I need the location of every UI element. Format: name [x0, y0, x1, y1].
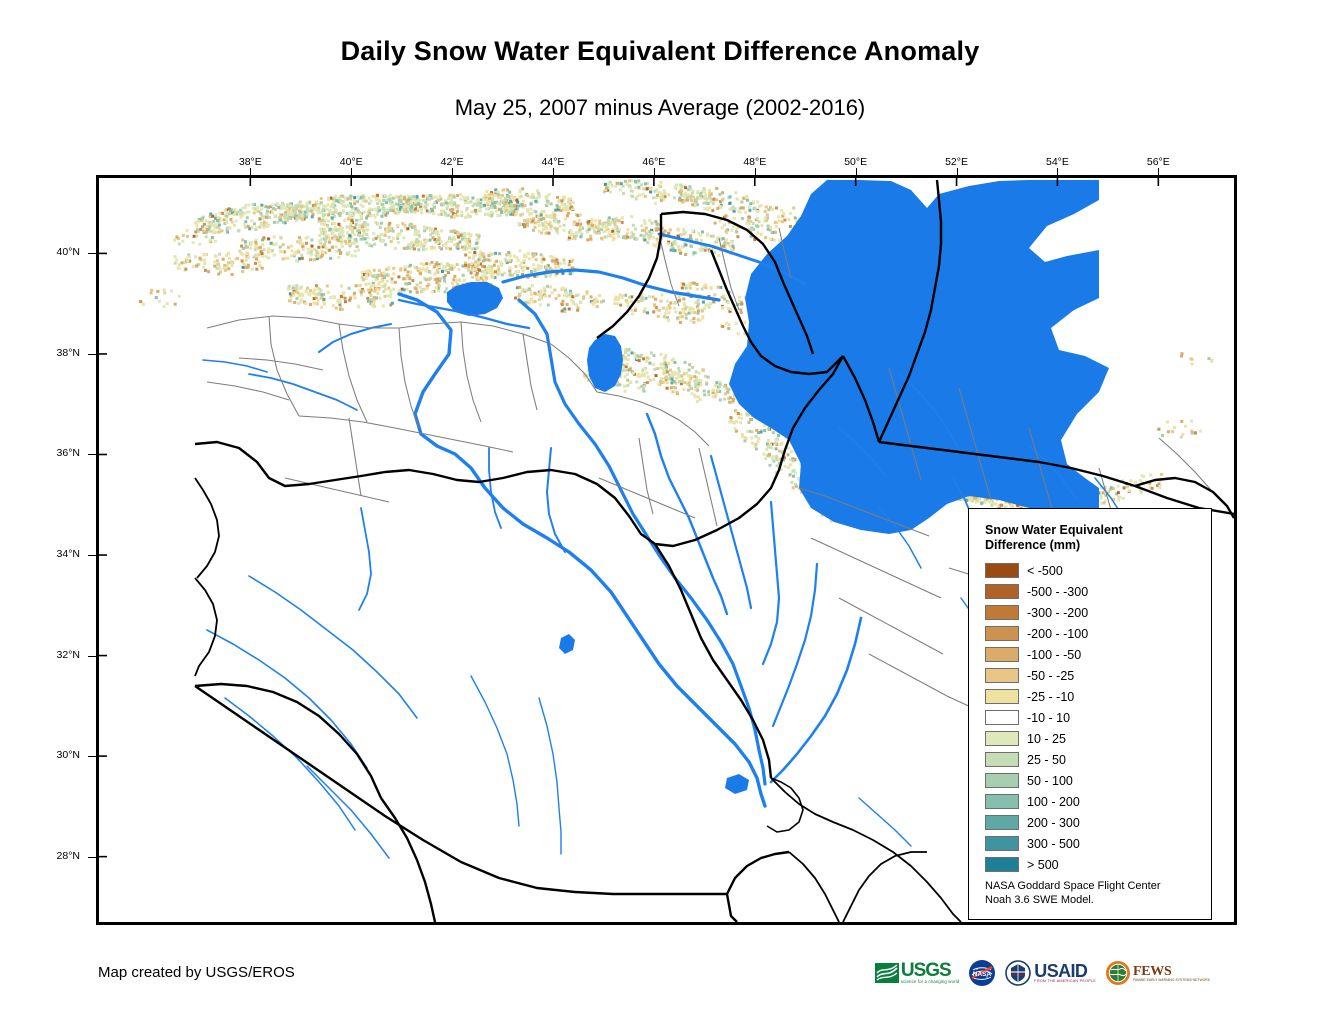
- swe-anomaly-pixel: [384, 243, 387, 246]
- swe-anomaly-pixel: [304, 302, 307, 305]
- swe-anomaly-pixel: [320, 238, 323, 241]
- swe-anomaly-pixel: [725, 230, 728, 233]
- swe-anomaly-pixel: [290, 210, 293, 213]
- swe-anomaly-pixel: [741, 217, 744, 220]
- swe-anomaly-pixel: [663, 189, 666, 192]
- swe-anomaly-pixel: [646, 356, 649, 359]
- swe-anomaly-pixel: [563, 259, 566, 262]
- swe-anomaly-pixel: [240, 245, 243, 248]
- map-legend[interactable]: Snow Water Equivalent Difference (mm) < …: [968, 508, 1212, 920]
- swe-anomaly-pixel: [782, 212, 785, 215]
- legend-swatch: [985, 689, 1019, 704]
- swe-anomaly-pixel: [377, 283, 380, 286]
- swe-anomaly-pixel: [540, 231, 543, 234]
- swe-anomaly-pixel: [994, 503, 997, 506]
- swe-anomaly-pixel: [244, 204, 247, 207]
- swe-anomaly-pixel: [490, 211, 493, 214]
- swe-anomaly-pixel: [623, 385, 626, 388]
- swe-anomaly-pixel: [229, 209, 232, 212]
- swe-anomaly-pixel: [792, 459, 795, 462]
- swe-anomaly-pixel: [392, 209, 395, 212]
- swe-anomaly-pixel: [568, 308, 571, 311]
- swe-anomaly-pixel: [757, 440, 760, 443]
- swe-anomaly-pixel: [309, 258, 312, 261]
- swe-anomaly-pixel: [358, 234, 361, 237]
- swe-anomaly-pixel: [318, 217, 321, 220]
- swe-anomaly-pixel: [526, 267, 529, 270]
- swe-anomaly-pixel: [271, 211, 274, 214]
- swe-anomaly-pixel: [415, 287, 418, 290]
- swe-anomaly-pixel: [377, 223, 380, 226]
- swe-anomaly-pixel: [794, 471, 797, 474]
- swe-anomaly-pixel: [419, 281, 422, 284]
- legend-row[interactable]: 50 - 100: [985, 770, 1211, 791]
- swe-anomaly-pixel: [364, 200, 367, 203]
- swe-anomaly-pixel: [267, 237, 270, 240]
- swe-anomaly-pixel: [719, 286, 722, 289]
- swe-anomaly-pixel: [717, 286, 720, 289]
- legend-row[interactable]: 25 - 50: [985, 749, 1211, 770]
- swe-anomaly-pixel: [457, 231, 460, 234]
- swe-anomaly-pixel: [451, 282, 454, 285]
- swe-anomaly-pixel: [682, 228, 685, 231]
- swe-anomaly-pixel: [317, 207, 320, 210]
- swe-anomaly-pixel: [626, 301, 629, 304]
- swe-anomaly-pixel: [333, 296, 336, 299]
- swe-anomaly-pixel: [736, 235, 739, 238]
- swe-anomaly-pixel: [273, 221, 276, 224]
- swe-anomaly-pixel: [375, 278, 378, 281]
- swe-anomaly-pixel: [306, 248, 309, 251]
- swe-anomaly-pixel: [510, 203, 513, 206]
- swe-anomaly-pixel: [758, 220, 761, 223]
- swe-anomaly-pixel: [666, 300, 669, 303]
- legend-row[interactable]: -50 - -25: [985, 665, 1211, 686]
- swe-anomaly-pixel: [562, 203, 565, 206]
- swe-anomaly-pixel: [327, 203, 330, 206]
- swe-anomaly-pixel: [739, 308, 742, 311]
- swe-anomaly-pixel: [518, 222, 521, 225]
- swe-anomaly-pixel: [755, 443, 758, 446]
- swe-anomaly-pixel: [397, 241, 400, 244]
- swe-anomaly-pixel: [332, 228, 335, 231]
- legend-label: -10 - 10: [1027, 711, 1070, 725]
- swe-anomaly-pixel: [1149, 474, 1152, 477]
- swe-anomaly-pixel: [723, 385, 726, 388]
- swe-anomaly-pixel: [630, 215, 633, 218]
- swe-anomaly-pixel: [546, 285, 549, 288]
- swe-anomaly-pixel: [652, 310, 655, 313]
- swe-anomaly-pixel: [320, 222, 323, 225]
- swe-anomaly-pixel: [554, 262, 557, 265]
- swe-anomaly-pixel: [774, 221, 777, 224]
- usaid-logo: USAID FROM THE AMERICAN PEOPLE: [1005, 958, 1096, 988]
- swe-anomaly-pixel: [331, 246, 334, 249]
- swe-anomaly-pixel: [287, 246, 290, 249]
- swe-anomaly-pixel: [255, 226, 258, 229]
- swe-anomaly-pixel: [365, 283, 368, 286]
- swe-anomaly-pixel: [653, 304, 656, 307]
- legend-row[interactable]: -500 - -300: [985, 581, 1211, 602]
- swe-anomaly-pixel: [551, 291, 554, 294]
- swe-anomaly-pixel: [297, 205, 300, 208]
- swe-anomaly-pixel: [289, 213, 292, 216]
- agency-logo-strip: USGS science for a changing world NASA U…: [875, 957, 1210, 989]
- swe-anomaly-pixel: [697, 395, 700, 398]
- legend-row[interactable]: 10 - 25: [985, 728, 1211, 749]
- swe-anomaly-pixel: [598, 232, 601, 235]
- swe-anomaly-pixel: [624, 390, 627, 393]
- swe-anomaly-pixel: [605, 226, 608, 229]
- swe-anomaly-pixel: [787, 447, 790, 450]
- swe-anomaly-pixel: [414, 232, 417, 235]
- swe-anomaly-pixel: [362, 196, 365, 199]
- legend-row[interactable]: 100 - 200: [985, 791, 1211, 812]
- swe-anomaly-pixel: [566, 205, 569, 208]
- swe-anomaly-pixel: [707, 393, 710, 396]
- swe-anomaly-pixel: [243, 223, 246, 226]
- swe-anomaly-pixel: [399, 232, 402, 235]
- swe-anomaly-pixel: [260, 223, 263, 226]
- swe-anomaly-pixel: [289, 299, 292, 302]
- swe-anomaly-pixel: [380, 274, 383, 277]
- swe-anomaly-pixel: [594, 301, 597, 304]
- swe-anomaly-pixel: [391, 277, 394, 280]
- legend-swatch: [985, 647, 1019, 662]
- swe-anomaly-pixel: [425, 240, 428, 243]
- swe-anomaly-pixel: [1110, 486, 1113, 489]
- swe-anomaly-pixel: [433, 272, 436, 275]
- swe-anomaly-pixel: [732, 421, 735, 424]
- swe-anomaly-pixel: [648, 295, 651, 298]
- swe-anomaly-pixel: [329, 228, 332, 231]
- swe-anomaly-pixel: [520, 261, 523, 264]
- swe-anomaly-pixel: [721, 325, 724, 328]
- legend-row[interactable]: -25 - -10: [985, 686, 1211, 707]
- swe-anomaly-pixel: [601, 226, 604, 229]
- swe-anomaly-pixel: [435, 263, 438, 266]
- swe-anomaly-pixel: [450, 198, 453, 201]
- swe-anomaly-pixel: [523, 259, 526, 262]
- swe-anomaly-pixel: [207, 270, 210, 273]
- swe-anomaly-pixel: [339, 231, 342, 234]
- swe-anomaly-pixel: [1157, 428, 1160, 431]
- swe-anomaly-pixel: [518, 196, 521, 199]
- swe-anomaly-pixel: [302, 245, 305, 248]
- swe-anomaly-pixel: [634, 180, 637, 183]
- swe-anomaly-pixel: [195, 224, 198, 227]
- swe-anomaly-pixel: [787, 466, 790, 469]
- swe-anomaly-pixel: [455, 280, 458, 283]
- swe-anomaly-pixel: [458, 268, 461, 271]
- swe-anomaly-pixel: [335, 307, 338, 310]
- swe-anomaly-pixel: [626, 363, 629, 366]
- swe-anomaly-pixel: [728, 421, 731, 424]
- swe-anomaly-pixel: [323, 243, 326, 246]
- swe-anomaly-pixel: [532, 229, 535, 232]
- swe-anomaly-pixel: [660, 363, 663, 366]
- swe-anomaly-pixel: [508, 270, 511, 273]
- swe-anomaly-pixel: [619, 304, 622, 307]
- swe-anomaly-pixel: [1123, 486, 1126, 489]
- swe-anomaly-pixel: [513, 255, 516, 258]
- swe-anomaly-pixel: [242, 266, 245, 269]
- swe-anomaly-pixel: [614, 298, 617, 301]
- swe-anomaly-pixel: [792, 475, 795, 478]
- swe-anomaly-pixel: [482, 252, 485, 255]
- legend-row[interactable]: 200 - 300: [985, 812, 1211, 833]
- swe-anomaly-pixel: [331, 216, 334, 219]
- swe-anomaly-pixel: [642, 385, 645, 388]
- swe-anomaly-pixel: [1191, 432, 1194, 435]
- swe-anomaly-pixel: [696, 400, 699, 403]
- swe-anomaly-pixel: [361, 225, 364, 228]
- swe-anomaly-pixel: [425, 262, 428, 265]
- swe-anomaly-pixel: [644, 222, 647, 225]
- swe-anomaly-pixel: [340, 285, 343, 288]
- swe-anomaly-pixel: [428, 210, 431, 213]
- swe-anomaly-pixel: [317, 255, 320, 258]
- swe-anomaly-pixel: [638, 359, 641, 362]
- swe-anomaly-pixel: [389, 209, 392, 212]
- swe-anomaly-pixel: [646, 381, 649, 384]
- swe-anomaly-pixel: [577, 306, 580, 309]
- swe-anomaly-pixel: [659, 196, 662, 199]
- swe-anomaly-pixel: [554, 209, 557, 212]
- swe-anomaly-pixel: [622, 236, 625, 239]
- swe-anomaly-pixel: [383, 285, 386, 288]
- swe-anomaly-pixel: [734, 191, 737, 194]
- swe-anomaly-pixel: [792, 207, 795, 210]
- swe-anomaly-pixel: [460, 234, 463, 237]
- swe-anomaly-pixel: [326, 208, 329, 211]
- lon-tick-label: 50°E: [826, 156, 886, 168]
- legend-row[interactable]: -200 - -100: [985, 623, 1211, 644]
- swe-anomaly-pixel: [437, 213, 440, 216]
- swe-anomaly-pixel: [553, 289, 556, 292]
- legend-row[interactable]: -100 - -50: [985, 644, 1211, 665]
- swe-anomaly-pixel: [774, 442, 777, 445]
- swe-anomaly-pixel: [645, 360, 648, 363]
- swe-anomaly-pixel: [471, 276, 474, 279]
- swe-anomaly-pixel: [428, 271, 431, 274]
- swe-anomaly-pixel: [1180, 436, 1183, 439]
- swe-anomaly-pixel: [727, 242, 730, 245]
- swe-anomaly-pixel: [535, 258, 538, 261]
- swe-anomaly-pixel: [700, 249, 703, 252]
- swe-anomaly-pixel: [379, 226, 382, 229]
- swe-anomaly-pixel: [517, 204, 520, 207]
- swe-anomaly-pixel: [725, 322, 728, 325]
- swe-anomaly-pixel: [549, 286, 552, 289]
- river-anatolia-west: [249, 374, 357, 410]
- swe-anomaly-pixel: [729, 396, 732, 399]
- swe-anomaly-pixel: [326, 284, 329, 287]
- swe-anomaly-pixel: [667, 362, 670, 365]
- swe-anomaly-pixel: [706, 234, 709, 237]
- swe-anomaly-pixel: [368, 282, 371, 285]
- swe-anomaly-pixel: [532, 263, 535, 266]
- legend-row[interactable]: > 500: [985, 854, 1211, 875]
- swe-anomaly-pixel: [509, 200, 512, 203]
- swe-anomaly-pixel: [1158, 485, 1161, 488]
- swe-anomaly-pixel: [296, 217, 299, 220]
- swe-anomaly-pixel: [487, 267, 490, 270]
- swe-anomaly-pixel: [307, 292, 310, 295]
- swe-anomaly-pixel: [654, 220, 657, 223]
- swe-anomaly-pixel: [630, 300, 633, 303]
- legend-row[interactable]: -10 - 10: [985, 707, 1211, 728]
- swe-anomaly-pixel: [560, 199, 563, 202]
- lat-tick-label: 36°N: [24, 447, 80, 459]
- swe-anomaly-pixel: [671, 390, 674, 393]
- swe-anomaly-pixel: [409, 264, 412, 267]
- swe-anomaly-pixel: [221, 229, 224, 232]
- legend-swatch: [985, 710, 1019, 725]
- swe-anomaly-pixel: [231, 273, 234, 276]
- swe-anomaly-pixel: [746, 199, 749, 202]
- swe-anomaly-pixel: [634, 309, 637, 312]
- swe-anomaly-pixel: [472, 257, 475, 260]
- legend-row[interactable]: 300 - 500: [985, 833, 1211, 854]
- swe-anomaly-pixel: [473, 251, 476, 254]
- swe-anomaly-pixel: [406, 246, 409, 249]
- swe-anomaly-pixel: [449, 247, 452, 250]
- fews-wordmark: FEWS: [1133, 965, 1210, 978]
- swe-anomaly-pixel: [341, 227, 344, 230]
- swe-anomaly-pixel: [607, 183, 610, 186]
- swe-anomaly-pixel: [541, 261, 544, 264]
- swe-anomaly-pixel: [400, 229, 403, 232]
- legend-row[interactable]: -300 - -200: [985, 602, 1211, 623]
- swe-anomaly-pixel: [254, 248, 257, 251]
- swe-anomaly-pixel: [666, 370, 669, 373]
- swe-anomaly-pixel: [677, 245, 680, 248]
- swe-anomaly-pixel: [637, 179, 640, 182]
- swe-anomaly-pixel: [780, 209, 783, 212]
- swe-anomaly-pixel: [772, 455, 775, 458]
- swe-anomaly-pixel: [453, 275, 456, 278]
- swe-anomaly-pixel: [413, 266, 416, 269]
- swe-anomaly-pixel: [678, 299, 681, 302]
- swe-anomaly-pixel: [619, 188, 622, 191]
- swe-anomaly-pixel: [357, 196, 360, 199]
- swe-anomaly-pixel: [438, 195, 441, 198]
- swe-anomaly-pixel: [767, 208, 770, 211]
- swe-anomaly-pixel: [765, 206, 768, 209]
- swe-anomaly-pixel: [627, 304, 630, 307]
- swe-anomaly-pixel: [524, 204, 527, 207]
- swe-anomaly-pixel: [333, 238, 336, 241]
- swe-anomaly-pixel: [696, 283, 699, 286]
- swe-anomaly-pixel: [369, 294, 372, 297]
- legend-row[interactable]: < -500: [985, 560, 1211, 581]
- swe-anomaly-pixel: [240, 211, 243, 214]
- swe-anomaly-pixel: [712, 202, 715, 205]
- swe-anomaly-pixel: [540, 266, 543, 269]
- swe-anomaly-pixel: [518, 286, 521, 289]
- swe-anomaly-pixel: [220, 219, 223, 222]
- swe-anomaly-pixel: [1126, 485, 1129, 488]
- swe-anomaly-pixel: [654, 190, 657, 193]
- swe-anomaly-pixel: [1180, 420, 1183, 423]
- swe-anomaly-pixel: [1181, 433, 1184, 436]
- swe-anomaly-pixel: [239, 215, 242, 218]
- swe-anomaly-pixel: [667, 319, 670, 322]
- swe-anomaly-pixel: [473, 268, 476, 271]
- swe-anomaly-pixel: [142, 303, 145, 306]
- swe-anomaly-pixel: [534, 226, 537, 229]
- swe-anomaly-pixel: [502, 201, 505, 204]
- swe-anomaly-pixel: [310, 251, 313, 254]
- swe-anomaly-pixel: [372, 284, 375, 287]
- swe-anomaly-pixel: [233, 224, 236, 227]
- wadi-arabia-5: [471, 676, 519, 826]
- swe-anomaly-pixel: [385, 228, 388, 231]
- swe-anomaly-pixel: [687, 381, 690, 384]
- swe-anomaly-pixel: [529, 208, 532, 211]
- swe-anomaly-pixel: [432, 212, 435, 215]
- swe-anomaly-pixel: [322, 228, 325, 231]
- swe-anomaly-pixel: [735, 322, 738, 325]
- swe-anomaly-pixel: [509, 259, 512, 262]
- swe-anomaly-pixel: [335, 245, 338, 248]
- swe-anomaly-pixel: [620, 182, 623, 185]
- swe-anomaly-pixel: [464, 197, 467, 200]
- swe-anomaly-pixel: [349, 195, 352, 198]
- swe-anomaly-pixel: [509, 273, 512, 276]
- swe-anomaly-pixel: [647, 375, 650, 378]
- swe-anomaly-pixel: [519, 189, 522, 192]
- swe-anomaly-pixel: [755, 435, 758, 438]
- swe-anomaly-pixel: [670, 386, 673, 389]
- swe-anomaly-pixel: [756, 200, 759, 203]
- swe-anomaly-pixel: [764, 236, 767, 239]
- swe-anomaly-pixel: [735, 430, 738, 433]
- swe-anomaly-pixel: [610, 235, 613, 238]
- swe-anomaly-pixel: [435, 286, 438, 289]
- swe-anomaly-pixel: [205, 231, 208, 234]
- swe-anomaly-pixel: [549, 267, 552, 270]
- swe-anomaly-pixel: [411, 279, 414, 282]
- swe-anomaly-pixel: [674, 301, 677, 304]
- swe-anomaly-pixel: [662, 307, 665, 310]
- swe-anomaly-pixel: [218, 224, 221, 227]
- swe-anomaly-pixel: [693, 375, 696, 378]
- swe-anomaly-pixel: [637, 300, 640, 303]
- swe-anomaly-pixel: [448, 236, 451, 239]
- swe-anomaly-pixel: [319, 228, 322, 231]
- swe-anomaly-pixel: [241, 270, 244, 273]
- swe-anomaly-pixel: [173, 239, 176, 242]
- swe-anomaly-pixel: [399, 206, 402, 209]
- swe-anomaly-pixel: [476, 203, 479, 206]
- swe-anomaly-pixel: [484, 271, 487, 274]
- swe-anomaly-pixel: [502, 189, 505, 192]
- swe-anomaly-pixel: [707, 376, 710, 379]
- swe-anomaly-pixel: [587, 221, 590, 224]
- swe-anomaly-pixel: [254, 210, 257, 213]
- swe-anomaly-pixel: [294, 205, 297, 208]
- swe-anomaly-pixel: [301, 242, 304, 245]
- swe-anomaly-pixel: [225, 254, 228, 257]
- swe-anomaly-pixel: [516, 210, 519, 213]
- swe-anomaly-pixel: [590, 238, 593, 241]
- swe-anomaly-pixel: [357, 305, 360, 308]
- swe-anomaly-pixel: [139, 300, 142, 303]
- swe-anomaly-pixel: [166, 302, 169, 305]
- swe-anomaly-pixel: [358, 284, 361, 287]
